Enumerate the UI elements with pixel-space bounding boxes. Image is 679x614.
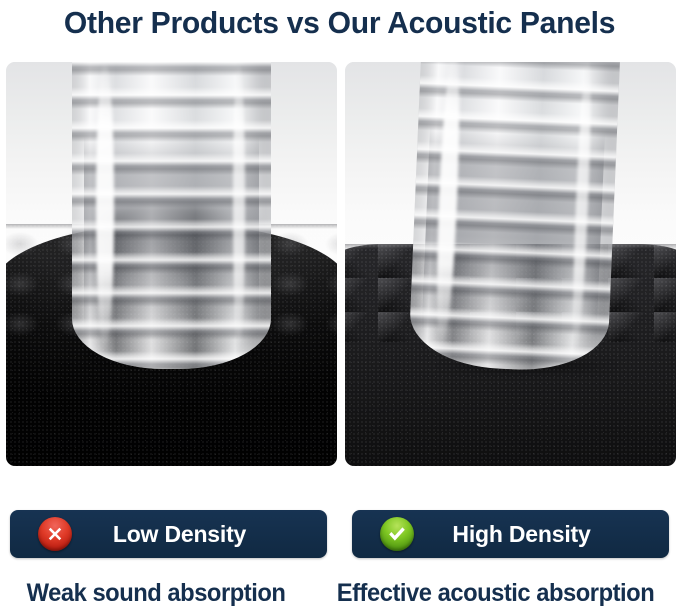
badge-high-density: High Density (352, 510, 669, 558)
page-title: Other Products vs Our Acoustic Panels (10, 0, 669, 52)
badge-low-density: Low Density (10, 510, 327, 558)
product-comparison-infographic: Other Products vs Our Acoustic Panels (0, 0, 679, 614)
water-bottle-right (408, 62, 620, 373)
bottle-highlight-left-b (233, 62, 245, 350)
photo-panel-high-density (345, 62, 676, 466)
comparison-captions: Weak sound absorption Effective acoustic… (0, 572, 679, 614)
badge-low-density-label: Low Density (72, 521, 327, 548)
green-check-circle-icon (380, 517, 414, 551)
badge-high-density-label: High Density (414, 521, 669, 548)
water-bottle-left (72, 62, 271, 369)
red-x-circle-icon (38, 517, 72, 551)
comparison-photo-panels (0, 62, 679, 466)
bottle-highlight-left-a (96, 62, 114, 350)
photo-panel-low-density (6, 62, 337, 466)
caption-high-density: Effective acoustic absorption (321, 579, 670, 608)
caption-low-density: Weak sound absorption (8, 579, 304, 608)
